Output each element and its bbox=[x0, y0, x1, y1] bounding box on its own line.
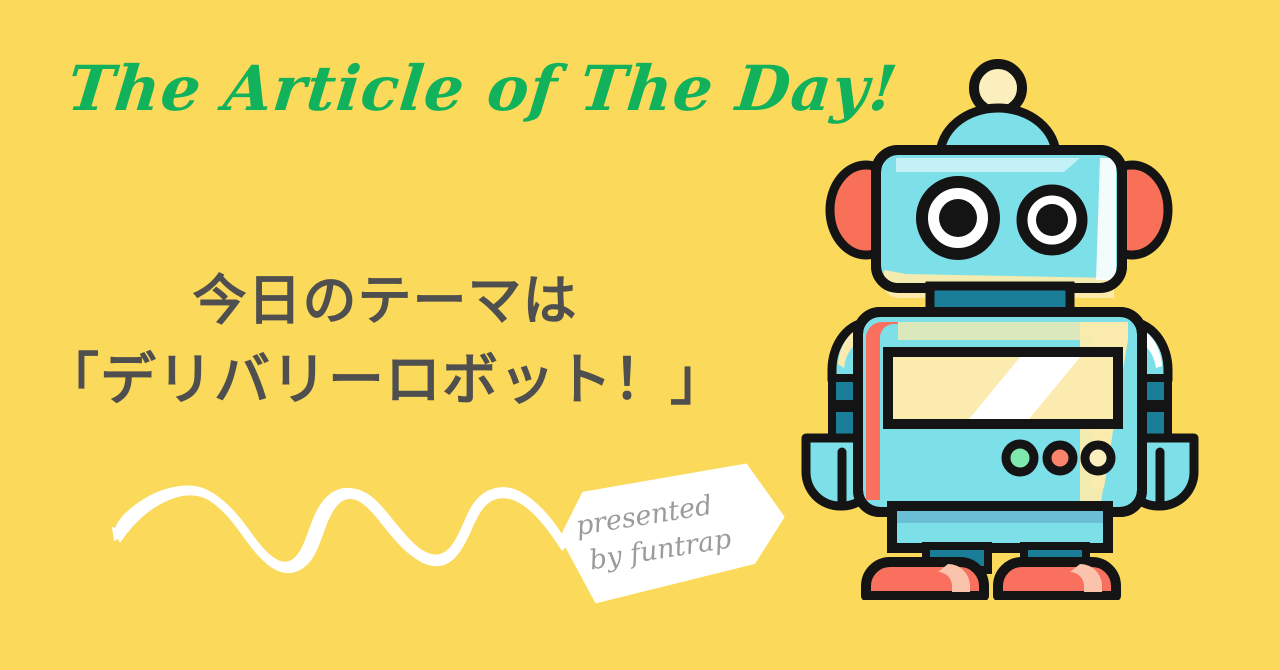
left-eye bbox=[922, 182, 994, 254]
delivery-robot-illustration bbox=[780, 40, 1220, 600]
robot-waist bbox=[892, 506, 1108, 548]
right-eye bbox=[1022, 190, 1082, 250]
chest-screen bbox=[888, 344, 1118, 432]
page-title: The Article of The Day! bbox=[65, 58, 901, 120]
article-of-the-day-banner: The Article of The Day! 今日のテーマは 「デリバリーロボ… bbox=[0, 0, 1280, 670]
robot-icon bbox=[780, 40, 1220, 600]
headline-line-1: 今日のテーマは bbox=[0, 262, 770, 340]
brush-stroke-decoration bbox=[110, 455, 570, 585]
brush-stroke-icon bbox=[110, 455, 570, 585]
headline-line-2: 「デリバリーロボット！」 bbox=[0, 340, 770, 421]
tag-shape-icon bbox=[548, 455, 798, 620]
headline: 今日のテーマは 「デリバリーロボット！」 bbox=[0, 262, 770, 421]
status-button-green bbox=[1006, 444, 1034, 472]
left-foot bbox=[866, 562, 984, 596]
status-button-coral bbox=[1047, 445, 1073, 471]
presented-by-tag: presented by funtrap bbox=[548, 455, 798, 620]
status-button-cream bbox=[1085, 445, 1111, 471]
right-foot bbox=[998, 562, 1116, 596]
